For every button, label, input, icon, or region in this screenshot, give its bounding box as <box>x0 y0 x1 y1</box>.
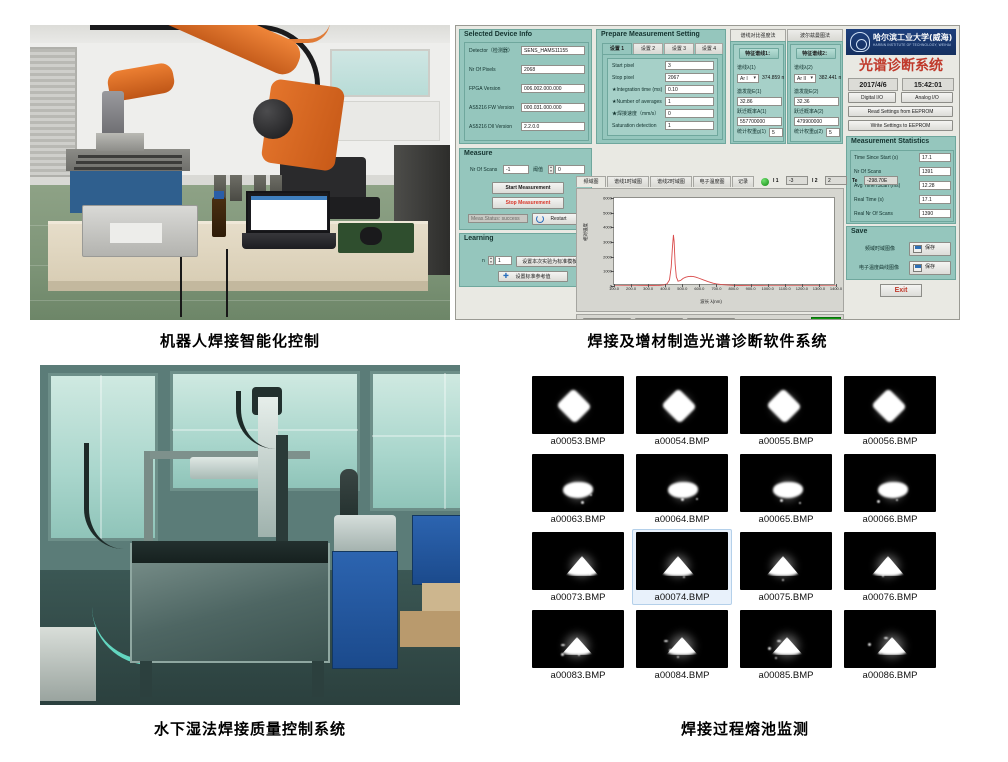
i1-value: -3 <box>786 176 808 185</box>
nr-of-pixels-value[interactable]: 2068 <box>521 65 585 74</box>
image-filename-label: a00065.BMP <box>736 514 836 525</box>
university-crest-icon <box>850 32 870 52</box>
image-grid-item[interactable]: a00084.BMP <box>632 610 732 684</box>
spectral-diagnosis-app: Selected Device Info Detector（检测器） SENS_… <box>455 25 960 320</box>
line2-energy-label: 激发能E(2) <box>794 88 818 97</box>
prepare-title: Prepare Measurement Setting <box>601 31 700 38</box>
image-filename-label: a00075.BMP <box>736 592 836 603</box>
university-logo: 哈尔滨工业大学(威海) HARBIN INSTITUTE OF TECHNOLO… <box>846 29 956 55</box>
tab-line2-time-domain[interactable]: 谱线2时域图 <box>650 176 692 187</box>
detector-label: Detector（检测器） <box>469 47 513 56</box>
learning-panel: Learning n 1 设置本次实验为标准模板n 设置标准参考值 ✚ <box>459 233 592 287</box>
image-filename-label: a00086.BMP <box>840 670 940 681</box>
stop-measurement-button[interactable]: Stop Measurement <box>492 197 564 209</box>
chart-x-tick-label: 400.0 <box>660 286 670 291</box>
chart-x-tick-label: 500.0 <box>677 286 687 291</box>
exit-button[interactable]: Exit <box>880 284 922 297</box>
weld-pool-thumbnail[interactable] <box>636 454 728 512</box>
underwater-welding-photo <box>40 365 460 705</box>
save-title: Save <box>851 228 867 235</box>
image-grid-item[interactable]: a00073.BMP <box>528 532 628 606</box>
date-display: 2017/4/6 <box>848 78 898 91</box>
line1-lambda-value: 374.859 nm <box>760 74 784 83</box>
line2-title: 特征谱线2： <box>796 48 836 59</box>
image-grid-item[interactable]: a00053.BMP <box>528 376 628 450</box>
spatter-spark <box>581 501 584 504</box>
tab-line1-time-domain[interactable]: 谱线1时域图 <box>607 176 649 187</box>
status-led-icon <box>761 178 769 186</box>
save-icon <box>913 245 922 253</box>
spatter-spark <box>681 498 684 501</box>
chart-plot-area[interactable]: 0100020003000400050006000 100.0200.0300.… <box>613 197 835 285</box>
chart-x-tick-label: 1200.0 <box>796 286 808 291</box>
image-filename-label: a00066.BMP <box>840 514 940 525</box>
learning-n-label: n <box>482 257 485 266</box>
device-info-title: Selected Device Info <box>464 31 532 38</box>
image-filename-label: a00064.BMP <box>632 514 732 525</box>
weld-pool-thumbnail[interactable] <box>532 454 624 512</box>
fw-version-label: AS5216 FW Version <box>469 104 514 113</box>
spatter-spark <box>799 502 801 504</box>
m-lower-stepper[interactable] <box>801 319 807 320</box>
image-grid-item[interactable]: a00066.BMP <box>840 454 940 528</box>
measure-title: Measure <box>464 150 492 157</box>
refresh-icon <box>536 215 544 223</box>
robot-welding-photo <box>30 25 450 320</box>
line2-probability-input[interactable]: 479900000 <box>794 117 839 126</box>
standard-curve-button[interactable]: 标准曲线 <box>635 318 683 320</box>
measurement-statistics-panel: Measurement Statistics Time Since Start … <box>846 136 956 224</box>
line2-weight-input[interactable]: 5 <box>826 128 840 137</box>
image-filename-label: a00084.BMP <box>632 670 732 681</box>
te-value: -298.70E <box>864 176 898 185</box>
integration-time-label: ★Integration time (ms) <box>612 86 662 95</box>
stop-pixel-input[interactable]: 2067 <box>665 73 714 82</box>
caption-weld-pool-monitoring: 焊接过程熔池监测 <box>520 718 970 739</box>
line1-weight-input[interactable]: 5 <box>769 128 783 137</box>
image-grid-item[interactable]: a00056.BMP <box>840 376 940 450</box>
number-of-averages-label: ★Number of averages <box>612 98 662 107</box>
image-grid-item[interactable]: a00076.BMP <box>840 532 940 606</box>
weld-pool-thumbnail[interactable] <box>740 610 832 668</box>
tab-setting-2[interactable]: 设置 2 <box>633 43 663 54</box>
image-grid-item[interactable]: a00054.BMP <box>632 376 732 450</box>
learning-n-stepper[interactable] <box>488 256 494 265</box>
weld-pool-thumbnail[interactable] <box>740 454 832 512</box>
fw-version-value[interactable]: 000.031.000.000 <box>521 103 585 112</box>
read-eeprom-button[interactable]: Read Settings from EEPROM <box>848 106 953 117</box>
detector-value[interactable]: SENS_HAMS11155 <box>521 46 585 55</box>
line1-weight-label: 统计权重g(1) <box>737 128 766 137</box>
stat-real-time-value: 17.1 <box>919 195 951 204</box>
weld-pool-thumbnail[interactable] <box>532 610 624 668</box>
weld-pool-thumbnail[interactable] <box>740 376 832 434</box>
image-grid-item[interactable]: a00085.BMP <box>736 610 836 684</box>
chart-x-tick-label: 700.0 <box>711 286 721 291</box>
weld-pool-thumbnail[interactable] <box>532 376 624 434</box>
tab-setting-3[interactable]: 设置 3 <box>664 43 694 54</box>
chart-y-tick-label: 5000 <box>603 210 612 215</box>
poster-page: 机器人焊接智能化控制 Selected Device Info Detector… <box>0 0 1008 762</box>
chart-x-tick-label: 900.0 <box>746 286 756 291</box>
tab-records[interactable]: 记录 <box>732 176 754 187</box>
weld-speed-label: ★焊接速度（mm/s） <box>612 110 659 119</box>
i2-label: I 2 <box>812 177 818 186</box>
image-filename-label: a00056.BMP <box>840 436 940 447</box>
line2-energy-input[interactable]: 32.36 <box>794 97 839 106</box>
chart-y-axis-title: 相对强度 <box>583 223 589 241</box>
line2-probability-label: 跃迁概率A(2) <box>794 108 823 117</box>
image-filename-label: a00085.BMP <box>736 670 836 681</box>
spectrum-chart: 相对强度 0100020003000400050006000 100.0200.… <box>576 188 844 312</box>
chart-x-tick-label: 1400.0 <box>830 286 842 291</box>
line1-energy-label: 激发能E(1) <box>737 88 761 97</box>
digital-io-button[interactable]: Digital I/O <box>848 92 896 103</box>
dll-version-value[interactable]: 2.2.0.0 <box>521 122 585 131</box>
image-grid-item[interactable]: a00063.BMP <box>528 454 628 528</box>
learning-n-input[interactable]: 1 <box>495 256 512 265</box>
open-data-button[interactable]: 打开数据 <box>687 318 735 320</box>
image-filename-label: a00074.BMP <box>632 592 732 603</box>
tab-frequency-domain[interactable]: 频域图 <box>576 176 606 187</box>
chart-x-axis-title: 波长 λ(nm) <box>577 299 845 305</box>
line1-lambda-label: 谱线λ(1) <box>737 64 756 73</box>
chart-x-tick-label: 300.0 <box>643 286 653 291</box>
saturation-detection-input[interactable]: 1 <box>665 121 714 130</box>
line2-weight-label: 统计权重g(2) <box>794 128 823 137</box>
characteristic-line-1-panel: 特征谱线1： 谱线λ(1) Ar I 374.859 nm 激发能E(1) 32… <box>730 41 786 144</box>
status-badge: 正 常 <box>811 317 841 320</box>
image-grid-item[interactable]: a00055.BMP <box>736 376 836 450</box>
chart-x-tick-label: 200.0 <box>626 286 636 291</box>
learning-title: Learning <box>464 235 494 242</box>
line1-lambda-select[interactable]: Ar I <box>737 74 759 83</box>
fpga-version-value[interactable]: 006.002.000.000 <box>521 84 585 93</box>
stat-real-time-label: Real Time (s) <box>854 196 884 205</box>
stat-time-since-start-value: 17.1 <box>919 153 951 162</box>
start-pixel-input[interactable]: 3 <box>665 61 714 70</box>
image-grid-item[interactable]: a00075.BMP <box>736 532 836 606</box>
weld-pool-thumbnail[interactable] <box>740 532 832 590</box>
weld-pool-thumbnail[interactable] <box>636 532 728 590</box>
start-measurement-button[interactable]: Start Measurement <box>492 182 564 194</box>
save-temperature-label: 电子温度曲线图像 <box>859 264 899 273</box>
stat-nr-of-scans-value: 1391 <box>919 167 951 176</box>
te-label: Te <box>852 177 857 186</box>
university-name-cn: 哈尔滨工业大学(威海) <box>873 32 952 43</box>
stat-time-since-start-label: Time Since Start (s) <box>854 154 898 163</box>
save-icon <box>913 264 922 272</box>
threshold-input[interactable]: 0 <box>555 165 585 174</box>
weld-speed-input[interactable]: 0 <box>665 109 714 118</box>
spatter-spark <box>696 498 698 500</box>
spectral-software-screenshot: Selected Device Info Detector（检测器） SENS_… <box>455 25 960 320</box>
i2-value: 2 <box>825 176 847 185</box>
chart-x-tick-label: 1000.0 <box>762 286 774 291</box>
weld-pool-thumbnail[interactable] <box>844 610 936 668</box>
measure-status-text: Meas.Status: success <box>468 214 528 223</box>
chart-y-tick-label: 4000 <box>603 225 612 230</box>
line1-probability-label: 跃迁概率A(1) <box>737 108 766 117</box>
tab-electron-temperature[interactable]: 电子温度图 <box>693 176 731 187</box>
device-info-panel: Selected Device Info Detector（检测器） SENS_… <box>459 29 592 144</box>
tab-setting-1[interactable]: 设置 1 <box>602 43 632 54</box>
image-filename-label: a00073.BMP <box>528 592 628 603</box>
chart-x-tick-label: 600.0 <box>694 286 704 291</box>
statistics-title: Measurement Statistics <box>851 138 929 145</box>
integration-time-input[interactable]: 0.10 <box>665 85 714 94</box>
m-lower-input[interactable]: 0 <box>808 319 836 320</box>
tab-boltzmann-method[interactable]: 波尔兹曼图法 <box>787 29 843 41</box>
nr-of-scans-label: Nr Of Scans <box>470 166 497 175</box>
line1-energy-input[interactable]: 32.86 <box>737 97 782 106</box>
image-filename-label: a00053.BMP <box>528 436 628 447</box>
chart-y-tick-label: 1000 <box>603 269 612 274</box>
fpga-version-label: FPGA Version <box>469 85 500 94</box>
weld-pool-thumbnail[interactable] <box>844 376 936 434</box>
image-grid-item[interactable]: a00086.BMP <box>840 610 940 684</box>
weld-pool-image-grid: a00053.BMPa00054.BMPa00055.BMPa00056.BMP… <box>520 370 970 705</box>
spectrum-curve <box>614 198 836 286</box>
save-panel: Save 频域时域图像 保存 电子温度曲线图像 保存 <box>846 226 956 280</box>
line2-lambda-value: 382.441 nm <box>817 74 841 83</box>
save-spectrum-label: 频域时域图像 <box>865 245 895 254</box>
caption-robot-welding: 机器人焊接智能化控制 <box>30 330 450 351</box>
time-display: 15:42:01 <box>902 78 954 91</box>
chart-y-tick-label: 6000 <box>603 196 612 201</box>
threshold-label: 阈值 <box>533 166 543 175</box>
m-upper-input[interactable]: 0 <box>762 319 790 320</box>
plus-icon: ✚ <box>503 273 509 280</box>
chart-x-tick-label: 800.0 <box>729 286 739 291</box>
spatter-spark <box>884 637 888 639</box>
image-grid-item[interactable]: a00074.BMP <box>632 532 732 606</box>
chart-y-tick-label: 3000 <box>603 240 612 245</box>
caption-underwater-welding: 水下湿法焊接质量控制系统 <box>40 718 460 739</box>
image-grid-item[interactable]: a00083.BMP <box>528 610 628 684</box>
start-pixel-label: Start pixel <box>612 62 634 71</box>
weld-pool-thumbnail[interactable] <box>636 610 728 668</box>
chart-y-tick-label: 2000 <box>603 254 612 259</box>
chart-x-tick-label: 1100.0 <box>779 286 791 291</box>
line1-title: 特征谱线1： <box>739 48 779 59</box>
chart-toolbar: 清除曲线 标准曲线 ✚ 打开数据 M 0 m 0 <box>576 314 844 320</box>
image-grid-item[interactable]: a00064.BMP <box>632 454 732 528</box>
saturation-detection-label: Saturation detection <box>612 122 656 131</box>
m-upper-stepper[interactable] <box>755 319 761 320</box>
stop-pixel-label: Stop pixel <box>612 74 634 83</box>
weld-pool-thumbnail[interactable] <box>532 532 624 590</box>
app-title: 光谱诊断系统 <box>846 56 956 76</box>
spatter-spark <box>578 654 580 656</box>
image-filename-label: a00063.BMP <box>528 514 628 525</box>
image-filename-label: a00055.BMP <box>736 436 836 447</box>
university-name-en: HARBIN INSTITUTE OF TECHNOLOGY, WEIHAI <box>873 43 951 47</box>
image-filename-label: a00083.BMP <box>528 670 628 681</box>
image-filename-label: a00076.BMP <box>840 592 940 603</box>
stat-avg-time-value: 12.28 <box>919 181 951 190</box>
i1-label: I 1 <box>773 177 779 186</box>
line1-probability-input[interactable]: 557700000 <box>737 117 782 126</box>
weld-pool-thumbnail[interactable] <box>636 376 728 434</box>
spatter-spark <box>877 500 880 503</box>
line2-lambda-label: 谱线λ(2) <box>794 64 813 73</box>
tab-setting-4[interactable]: 设置 4 <box>695 43 723 54</box>
characteristic-line-2-panel: 特征谱线2： 谱线λ(2) Ar II 382.441 nm 激发能E(2) 3… <box>787 41 843 144</box>
tab-line-intensity-method[interactable]: 谱线对比强度法 <box>730 29 786 41</box>
image-filename-label: a00054.BMP <box>632 436 732 447</box>
dll-version-label: AS5216 Dll Version <box>469 123 512 132</box>
number-of-averages-input[interactable]: 1 <box>665 97 714 106</box>
line2-lambda-select[interactable]: Ar II <box>794 74 816 83</box>
stat-real-nr-scans-label: Real Nr Of Scans <box>854 210 893 219</box>
spatter-spark <box>683 576 685 578</box>
spatter-spark <box>868 643 871 646</box>
analog-io-button[interactable]: Analog I/O <box>901 92 953 103</box>
weld-pool-thumbnail[interactable] <box>844 454 936 512</box>
chart-x-tick-label: 100.0 <box>609 286 619 291</box>
prepare-measurement-panel: Prepare Measurement Setting 设置 1 设置 2 设置… <box>596 29 726 144</box>
weld-pool-thumbnail[interactable] <box>844 532 936 590</box>
nr-of-pixels-label: Nr Of Pixels <box>469 66 496 75</box>
nr-of-scans-input[interactable]: -1 <box>503 165 529 174</box>
image-grid-item[interactable]: a00065.BMP <box>736 454 836 528</box>
clear-curve-button[interactable]: 清除曲线 <box>583 318 631 320</box>
chart-x-tick-label: 1300.0 <box>813 286 825 291</box>
measure-panel: Measure Nr Of Scans -1 阈值 0 Start Measur… <box>459 148 592 230</box>
stat-real-nr-scans-value: 1390 <box>919 209 951 218</box>
write-eeprom-button[interactable]: Write Settings to EEPROM <box>848 120 953 131</box>
caption-spectral-software: 焊接及增材制造光谱诊断软件系统 <box>455 330 960 351</box>
threshold-stepper[interactable] <box>548 165 554 174</box>
